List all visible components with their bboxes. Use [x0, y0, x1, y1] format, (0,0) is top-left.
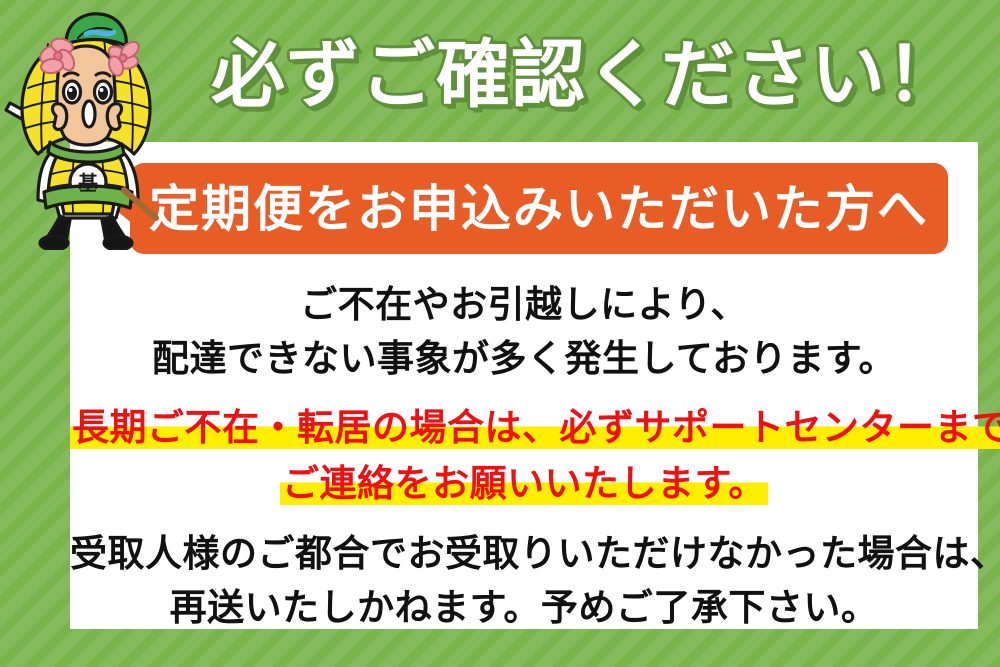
subscription-banner: 定期便をお申込みいただいた方へ: [130, 163, 948, 254]
notice-bottom-block: 受取人様のご都合でお受取りいただけなかった場合は、 再送いたしかねます。予めご了…: [70, 527, 978, 635]
notice-red-line-1-text: 長期ご不在・転居の場合は、必ずサポートセンターまで: [70, 406, 1000, 449]
notice-bottom-line-2: 再送いたしかねます。予めご了承下さい。: [70, 581, 978, 635]
notice-red-line-2-text: ご連絡をお願いいたします。: [280, 462, 768, 505]
notice-red-line-1: 長期ご不在・転居の場合は、必ずサポートセンターまで: [70, 400, 978, 456]
notice-red-line-2: ご連絡をお願いいたします。: [70, 456, 978, 512]
notice-bottom-line-1: 受取人様のご都合でお受取りいただけなかった場合は、: [70, 527, 978, 581]
mascot-emblem-char: 基: [78, 171, 99, 195]
notice-black-line-1: ご不在やお引越しにより、: [70, 278, 978, 332]
poster-root: 必ずご確認ください！: [0, 0, 1000, 667]
mascot-illustration: 基: [4, 4, 166, 250]
banner-container: 定期便をお申込みいただいた方へ: [130, 163, 948, 254]
notice-black-block: ご不在やお引越しにより、 配達できない事象が多く発生しております。: [70, 278, 978, 386]
notice-black-line-2: 配達できない事象が多く発生しております。: [70, 332, 978, 386]
banner-label: 定期便をお申込みいただいた方へ: [149, 184, 929, 234]
page-title: 必ずご確認ください！: [186, 12, 986, 124]
notice-red-block: 長期ご不在・転居の場合は、必ずサポートセンターまで ご連絡をお願いいたします。: [70, 400, 978, 512]
